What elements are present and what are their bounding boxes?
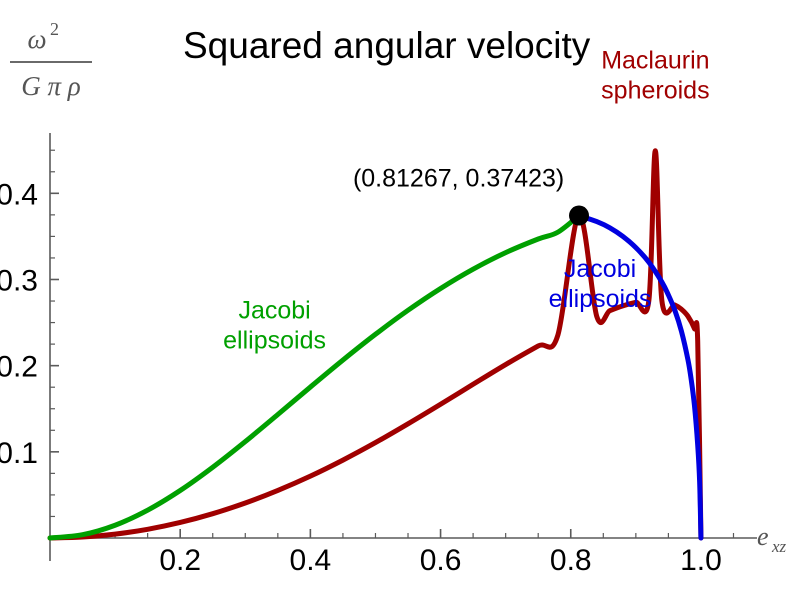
series-label-jacobi-green: Jacobi ellipsoids <box>223 296 326 354</box>
y-tick-label: 0.3 <box>0 264 38 297</box>
curve-maclaurin-spheroids <box>50 151 701 538</box>
x-axis-tick-labels: 0.20.40.60.81.0 <box>159 544 721 577</box>
curve-jacobi-ellipsoids-lower <box>50 216 579 538</box>
data-series-group <box>50 151 701 538</box>
y-axis-label: ω 2 G π ρ <box>10 19 92 101</box>
y-axis-tick-labels: 0.10.20.30.4 <box>0 178 38 470</box>
y-axis-label-denominator: G π ρ <box>21 71 81 101</box>
series-label-maclaurin-line2: spheroids <box>601 76 709 104</box>
series-label-jacobi-lower-line1: Jacobi <box>238 296 310 324</box>
series-label-maclaurin-line1: Maclaurin <box>601 46 709 74</box>
chart-container: 0.20.40.60.81.0 0.10.20.30.4 Squared ang… <box>0 0 800 600</box>
x-tick-label: 0.6 <box>420 544 462 577</box>
series-label-jacobi-lower-line2: ellipsoids <box>223 326 326 354</box>
y-axis-label-numerator: ω <box>27 24 46 54</box>
series-label-maclaurin: Maclaurin spheroids <box>601 46 709 104</box>
y-tick-label: 0.1 <box>0 437 38 470</box>
squared-angular-velocity-chart: 0.20.40.60.81.0 0.10.20.30.4 Squared ang… <box>0 0 800 600</box>
x-axis-label-subscript: xz <box>771 537 787 556</box>
x-tick-label: 1.0 <box>680 544 722 577</box>
x-tick-label: 0.2 <box>159 544 201 577</box>
x-axis-label-main: e <box>757 522 769 551</box>
x-axis-ticks <box>83 529 734 538</box>
series-label-jacobi-upper-line2: ellipsoids <box>549 285 652 313</box>
bifurcation-point-marker <box>569 206 589 226</box>
y-tick-label: 0.2 <box>0 351 38 384</box>
y-axis-ticks <box>50 150 59 516</box>
y-tick-label: 0.4 <box>0 178 38 211</box>
x-tick-label: 0.4 <box>290 544 332 577</box>
chart-title: Squared angular velocity <box>183 25 591 66</box>
series-label-jacobi-upper-line1: Jacobi <box>564 255 636 283</box>
x-tick-label: 0.8 <box>550 544 592 577</box>
bifurcation-annotation-label: (0.81267, 0.37423) <box>353 164 564 192</box>
y-axis-label-numerator-exponent: 2 <box>50 19 59 39</box>
x-axis-label: e xz <box>757 522 787 556</box>
